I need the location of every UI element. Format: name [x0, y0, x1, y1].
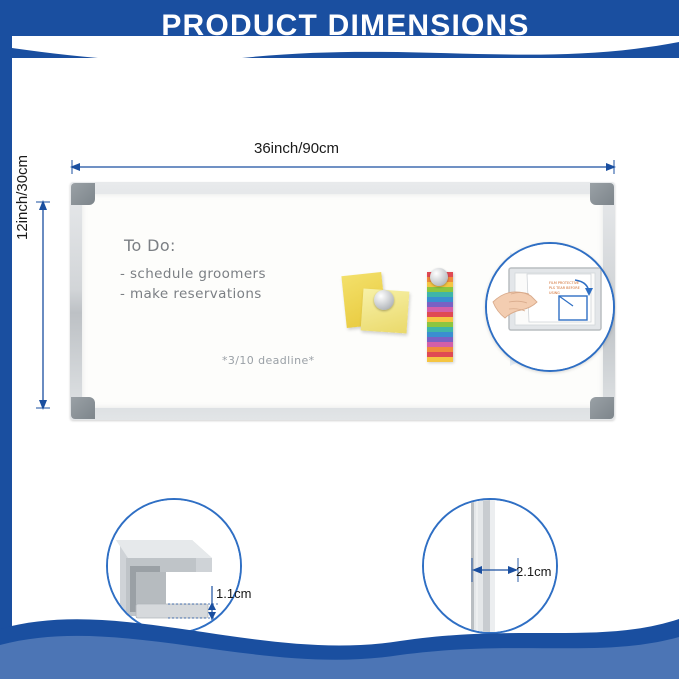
- svg-text:USING: USING: [549, 291, 560, 295]
- corner-bracket-top-left: [71, 183, 95, 205]
- note-deadline: *3/10 deadline*: [222, 354, 315, 367]
- color-strip-row: [427, 357, 453, 362]
- corner-bracket-bottom-right: [590, 397, 614, 419]
- callout-film-peel: FILM PROTECTIVE PLS TEAR BEFORE USING: [485, 242, 615, 372]
- corner-bracket-top-right: [590, 183, 614, 205]
- whiteboard: To Do: - schedule groomers - make reserv…: [70, 182, 615, 420]
- svg-text:PLS TEAR BEFORE: PLS TEAR BEFORE: [549, 286, 580, 290]
- magnet-round-1: [374, 290, 394, 310]
- edge-thickness-label: 2.1cm: [516, 564, 551, 579]
- note-line-1: - schedule groomers: [120, 266, 266, 282]
- product-dimensions-page: PRODUCT DIMENSIONS 36inch/90cm 12inch/30…: [0, 0, 679, 679]
- left-accent-bar: [0, 0, 12, 679]
- page-title: PRODUCT DIMENSIONS: [12, 0, 679, 52]
- corner-bracket-bottom-left: [71, 397, 95, 419]
- width-dimension-arrow: [70, 160, 616, 174]
- note-heading: To Do:: [124, 236, 176, 255]
- footer-wave-decoration: [0, 589, 679, 679]
- magnet-round-2: [430, 268, 448, 286]
- height-dimension-arrow: [36, 200, 50, 410]
- height-dimension-label: 12inch/30cm: [14, 155, 31, 240]
- note-line-2: - make reservations: [120, 286, 262, 302]
- svg-text:FILM PROTECTIVE: FILM PROTECTIVE: [549, 281, 579, 285]
- width-dimension-label: 36inch/90cm: [254, 140, 339, 157]
